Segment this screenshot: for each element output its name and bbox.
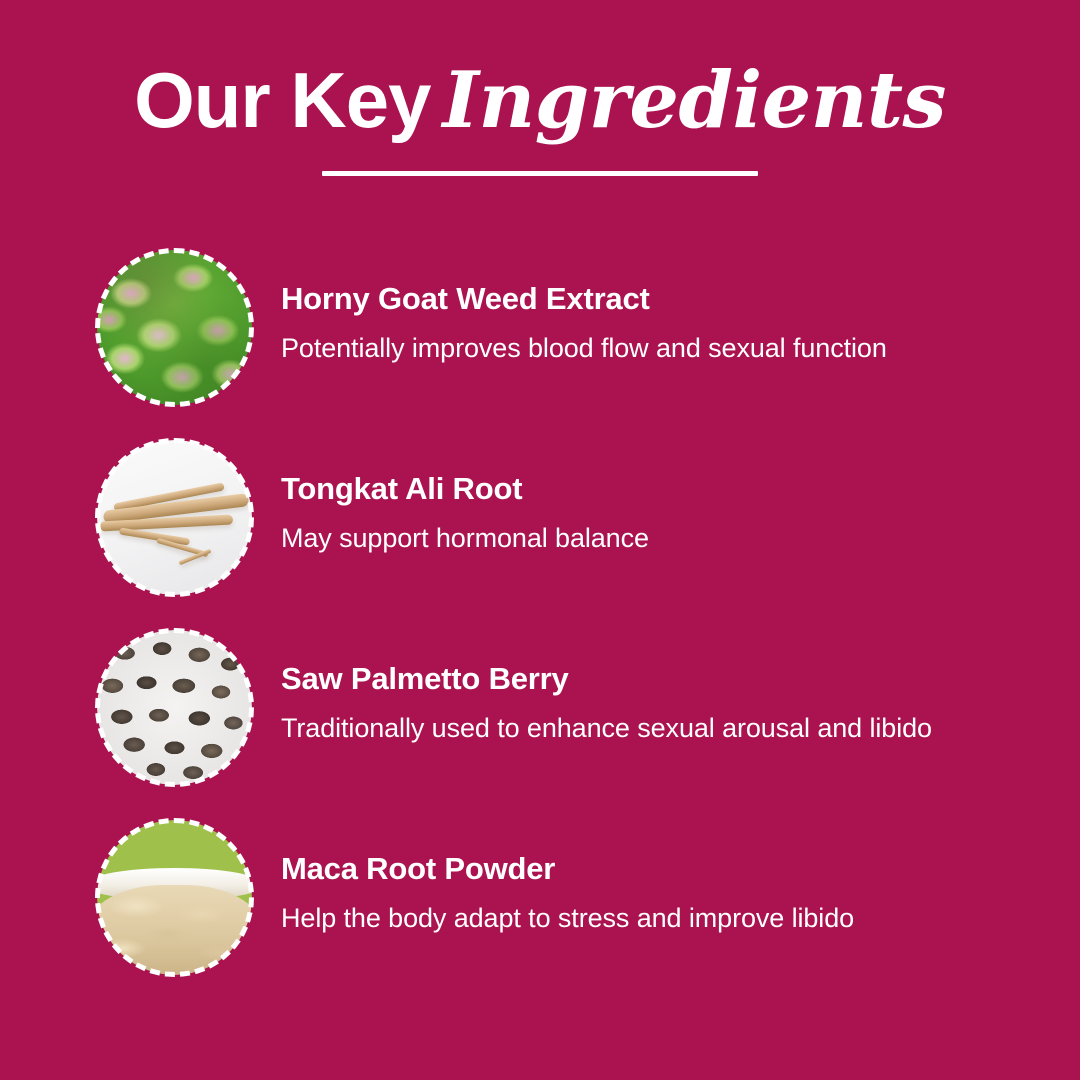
ingredient-row: Maca Root Powder Help the body adapt to … [0, 820, 1080, 1010]
poster-header: Our KeyIngredients [0, 52, 1080, 176]
epimedium-leaves-photo [97, 250, 252, 405]
ingredient-row: Tongkat Ali Root May support hormonal ba… [0, 440, 1080, 630]
page-title-italic: Ingredients [431, 55, 946, 146]
ingredient-description: May support hormonal balance [281, 521, 1041, 555]
title-divider [322, 171, 758, 176]
ingredient-text: Saw Palmetto Berry Traditionally used to… [281, 660, 1041, 745]
ingredient-description: Traditionally used to enhance sexual aro… [281, 711, 1041, 745]
ingredient-description: Potentially improves blood flow and sexu… [281, 331, 1041, 365]
ingredient-name: Horny Goat Weed Extract [281, 280, 1041, 318]
maca-root-powder-photo [97, 820, 252, 975]
ingredient-row: Saw Palmetto Berry Traditionally used to… [0, 630, 1080, 820]
ingredient-row: Horny Goat Weed Extract Potentially impr… [0, 250, 1080, 440]
ingredient-name: Tongkat Ali Root [281, 470, 1041, 508]
ingredient-text: Maca Root Powder Help the body adapt to … [281, 850, 1041, 935]
saw-palmetto-berries-photo [97, 630, 252, 785]
ingredient-description: Help the body adapt to stress and improv… [281, 901, 1041, 935]
page-title: Our KeyIngredients [0, 52, 1080, 149]
ingredient-name: Saw Palmetto Berry [281, 660, 1041, 698]
ingredient-name: Maca Root Powder [281, 850, 1041, 888]
tongkat-ali-root-photo [97, 440, 252, 595]
ingredients-poster: Our KeyIngredients Horny Goat Weed Extra… [0, 0, 1080, 1080]
page-title-regular: Our Key [134, 56, 430, 144]
ingredient-list: Horny Goat Weed Extract Potentially impr… [0, 250, 1080, 1010]
ingredient-text: Tongkat Ali Root May support hormonal ba… [281, 470, 1041, 555]
ingredient-text: Horny Goat Weed Extract Potentially impr… [281, 280, 1041, 365]
